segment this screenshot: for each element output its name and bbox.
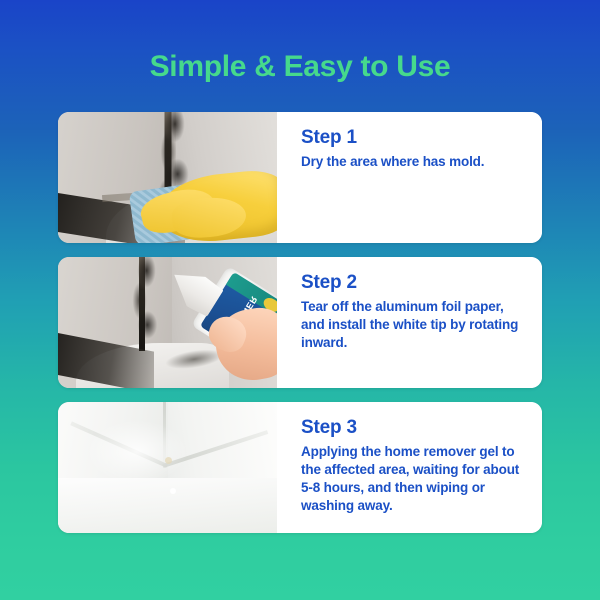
step-3-title: Step 3 [301,418,524,438]
step-1-title: Step 1 [301,128,524,148]
step-3-body: Step 3 Applying the home remover gel to … [277,402,542,533]
step-card: Step 1 Dry the area where has mold. [58,112,542,243]
step-2-description: Tear off the aluminum foil paper, and in… [301,298,524,352]
step-1-description: Dry the area where has mold. [301,153,524,171]
surface-highlight [84,415,215,507]
step-3-description: Applying the home remover gel to the aff… [301,443,524,515]
step-card: CLEANER Step 2 Tear off the aluminum foi… [58,257,542,388]
step-2-photo: CLEANER [58,257,277,388]
step-card: Step 3 Applying the home remover gel to … [58,402,542,533]
step-1-photo [58,112,277,243]
page-title: Simple & Easy to Use [0,50,600,83]
step-2-body: Step 2 Tear off the aluminum foil paper,… [277,257,542,388]
step-1-body: Step 1 Dry the area where has mold. [277,112,542,243]
step-3-photo [58,402,277,533]
steps-list: Step 1 Dry the area where has mold. [58,112,542,547]
poster: Simple & Easy to Use Step 1 Dry the area… [0,0,600,600]
step-2-title: Step 2 [301,273,524,293]
